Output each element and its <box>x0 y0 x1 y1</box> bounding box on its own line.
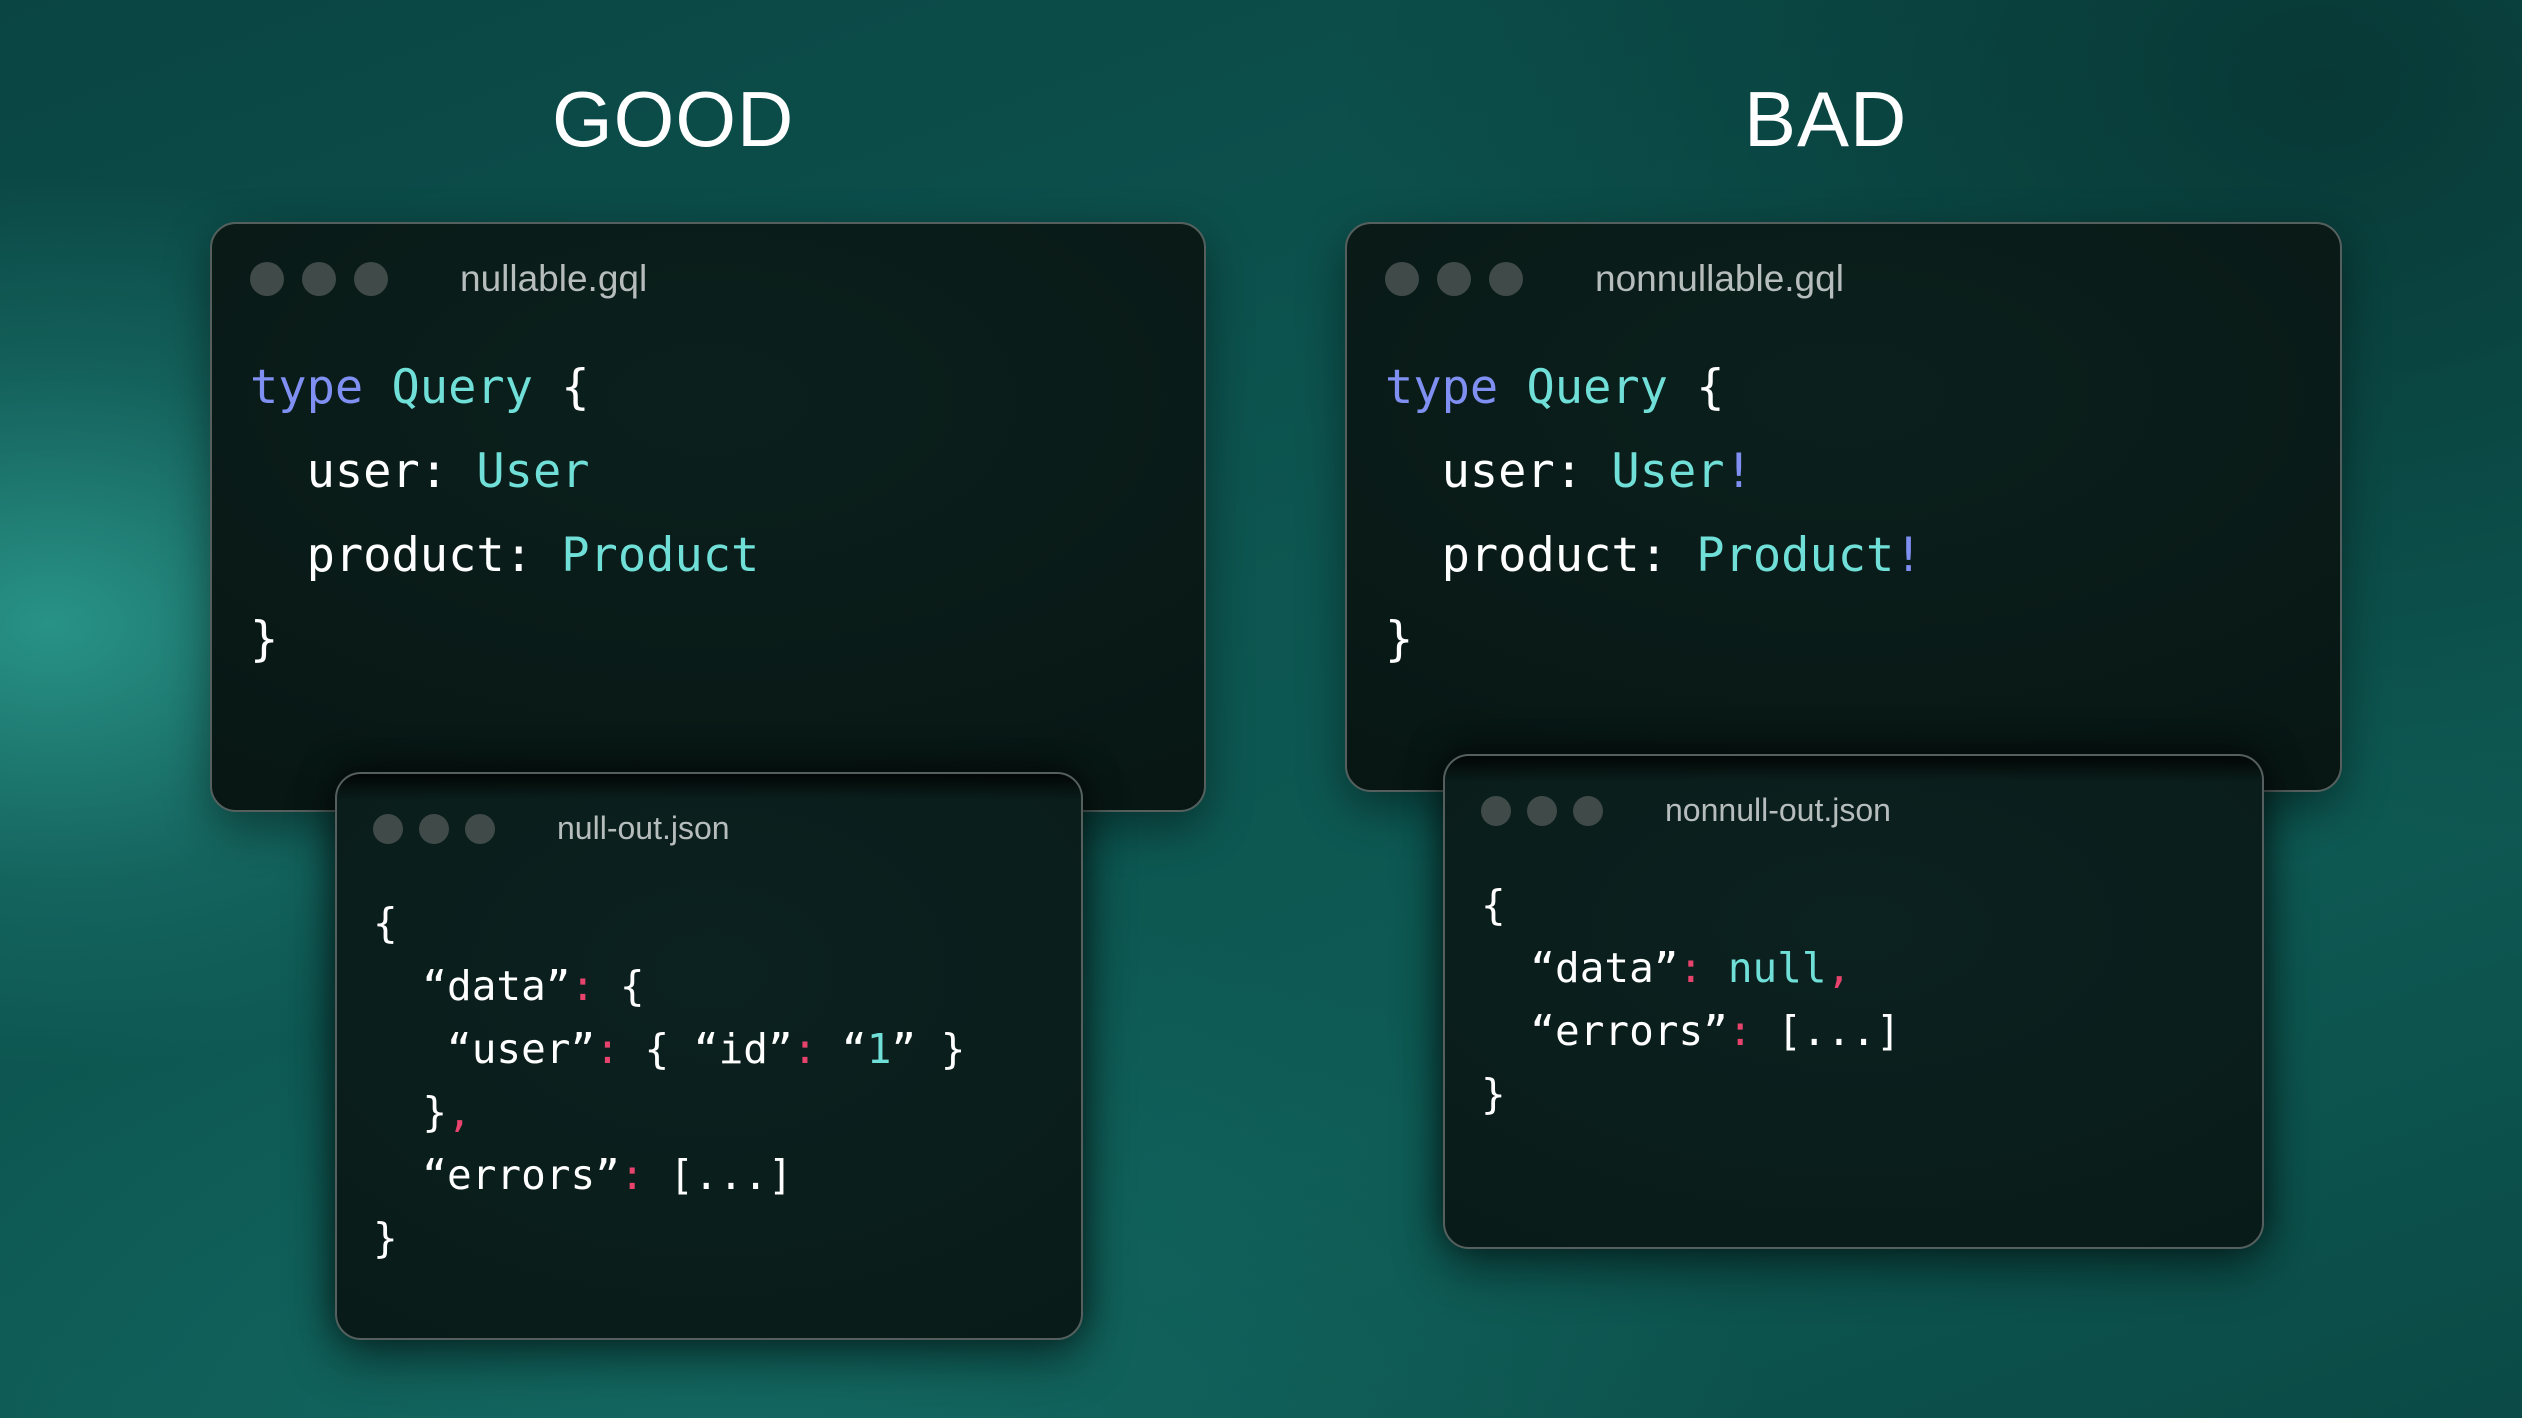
code-token: } <box>373 1214 398 1262</box>
code-token: [...] <box>1753 1007 1901 1055</box>
code-line: { <box>1481 874 1901 937</box>
code-line: type Query { <box>250 346 759 430</box>
code-token: Product <box>561 528 759 583</box>
code-token: { <box>1668 360 1725 415</box>
maximize-dot-icon[interactable] <box>465 814 495 844</box>
minimize-dot-icon[interactable] <box>302 262 336 296</box>
code-token: type <box>1385 360 1498 415</box>
code-token: [...] <box>645 1151 793 1199</box>
code-token: ! <box>1725 444 1753 499</box>
code-line: “data”: { <box>373 955 965 1018</box>
code-token: : <box>793 1025 818 1073</box>
code-token <box>363 360 391 415</box>
code-token: 1 <box>867 1025 892 1073</box>
code-token: : <box>570 962 595 1010</box>
close-dot-icon[interactable] <box>250 262 284 296</box>
code-line: }, <box>373 1081 965 1144</box>
minimize-dot-icon[interactable] <box>419 814 449 844</box>
window-filename: nonnullable.gql <box>1595 258 1844 300</box>
window-titlebar: nonnullable.gql <box>1347 258 2340 300</box>
code-token: : <box>1728 1007 1753 1055</box>
code-window-null-out-json[interactable]: null-out.json { “data”: { “user”: { “id”… <box>335 772 1083 1340</box>
code-token: , <box>447 1088 472 1136</box>
code-line: user: User <box>250 430 759 514</box>
code-window-nonnull-out-json[interactable]: nonnull-out.json { “data”: null, “errors… <box>1443 754 2264 1249</box>
code-token: { <box>533 360 590 415</box>
code-block: { “data”: { “user”: { “id”: “1” } }, “er… <box>373 892 965 1270</box>
column-heading-bad: BAD <box>1744 80 1907 158</box>
traffic-light-dots <box>250 262 388 296</box>
code-line: “data”: null, <box>1481 937 1901 1000</box>
code-token: } <box>250 612 278 667</box>
minimize-dot-icon[interactable] <box>1527 796 1557 826</box>
code-token: User <box>476 444 589 499</box>
code-token: Product <box>1696 528 1894 583</box>
window-titlebar: null-out.json <box>337 810 1081 847</box>
code-token: null <box>1728 944 1827 992</box>
maximize-dot-icon[interactable] <box>1489 262 1523 296</box>
code-line: “errors”: [...] <box>1481 1000 1901 1063</box>
code-token: : <box>1678 944 1703 992</box>
code-line: “errors”: [...] <box>373 1144 965 1207</box>
code-block: { “data”: null, “errors”: [...]} <box>1481 874 1901 1126</box>
maximize-dot-icon[interactable] <box>354 262 388 296</box>
close-dot-icon[interactable] <box>1481 796 1511 826</box>
code-token: { <box>595 962 644 1010</box>
code-token: { <box>1481 881 1506 929</box>
code-token: “ <box>817 1025 866 1073</box>
code-token: “data” <box>1481 944 1678 992</box>
code-token: ! <box>1894 528 1922 583</box>
code-line: } <box>1481 1063 1901 1126</box>
traffic-light-dots <box>1385 262 1523 296</box>
traffic-light-dots <box>373 814 495 844</box>
close-dot-icon[interactable] <box>373 814 403 844</box>
code-token: “errors” <box>1481 1007 1728 1055</box>
code-token: user: <box>1385 444 1611 499</box>
code-line: } <box>250 598 759 682</box>
window-titlebar: nullable.gql <box>212 258 1204 300</box>
code-line: } <box>1385 598 1923 682</box>
code-block: type Query { user: User! product: Produc… <box>1385 346 1923 682</box>
code-token <box>1703 944 1728 992</box>
code-line: product: Product <box>250 514 759 598</box>
comparison-figure: GOOD BAD nullable.gql type Query { user:… <box>0 0 2522 1418</box>
code-token <box>1498 360 1526 415</box>
code-token: type <box>250 360 363 415</box>
code-token: } <box>1481 1070 1506 1118</box>
code-token: { <box>620 1025 694 1073</box>
code-token: : <box>595 1025 620 1073</box>
code-token: User <box>1611 444 1724 499</box>
traffic-light-dots <box>1481 796 1603 826</box>
code-window-nullable-gql[interactable]: nullable.gql type Query { user: User pro… <box>210 222 1206 812</box>
code-window-nonnullable-gql[interactable]: nonnullable.gql type Query { user: User!… <box>1345 222 2342 792</box>
window-filename: nullable.gql <box>460 258 647 300</box>
window-titlebar: nonnull-out.json <box>1445 792 2262 829</box>
code-token: “id” <box>694 1025 793 1073</box>
code-block: type Query { user: User product: Product… <box>250 346 759 682</box>
code-token: : <box>620 1151 645 1199</box>
column-heading-good: GOOD <box>552 80 794 158</box>
code-token: ” } <box>891 1025 965 1073</box>
window-filename: nonnull-out.json <box>1665 792 1891 829</box>
maximize-dot-icon[interactable] <box>1573 796 1603 826</box>
code-token: Query <box>1526 360 1667 415</box>
code-line: { <box>373 892 965 955</box>
minimize-dot-icon[interactable] <box>1437 262 1471 296</box>
code-token: “user” <box>373 1025 595 1073</box>
close-dot-icon[interactable] <box>1385 262 1419 296</box>
code-line: type Query { <box>1385 346 1923 430</box>
code-token: , <box>1827 944 1852 992</box>
code-line: product: Product! <box>1385 514 1923 598</box>
code-token: } <box>373 1088 447 1136</box>
code-token: } <box>1385 612 1413 667</box>
code-token: Query <box>391 360 532 415</box>
window-filename: null-out.json <box>557 810 730 847</box>
code-token: product: <box>1385 528 1696 583</box>
code-line: “user”: { “id”: “1” } <box>373 1018 965 1081</box>
code-line: user: User! <box>1385 430 1923 514</box>
code-token: “data” <box>373 962 570 1010</box>
code-token: product: <box>250 528 561 583</box>
code-line: } <box>373 1207 965 1270</box>
code-token: { <box>373 899 398 947</box>
code-token: “errors” <box>373 1151 620 1199</box>
code-token: user: <box>250 444 476 499</box>
